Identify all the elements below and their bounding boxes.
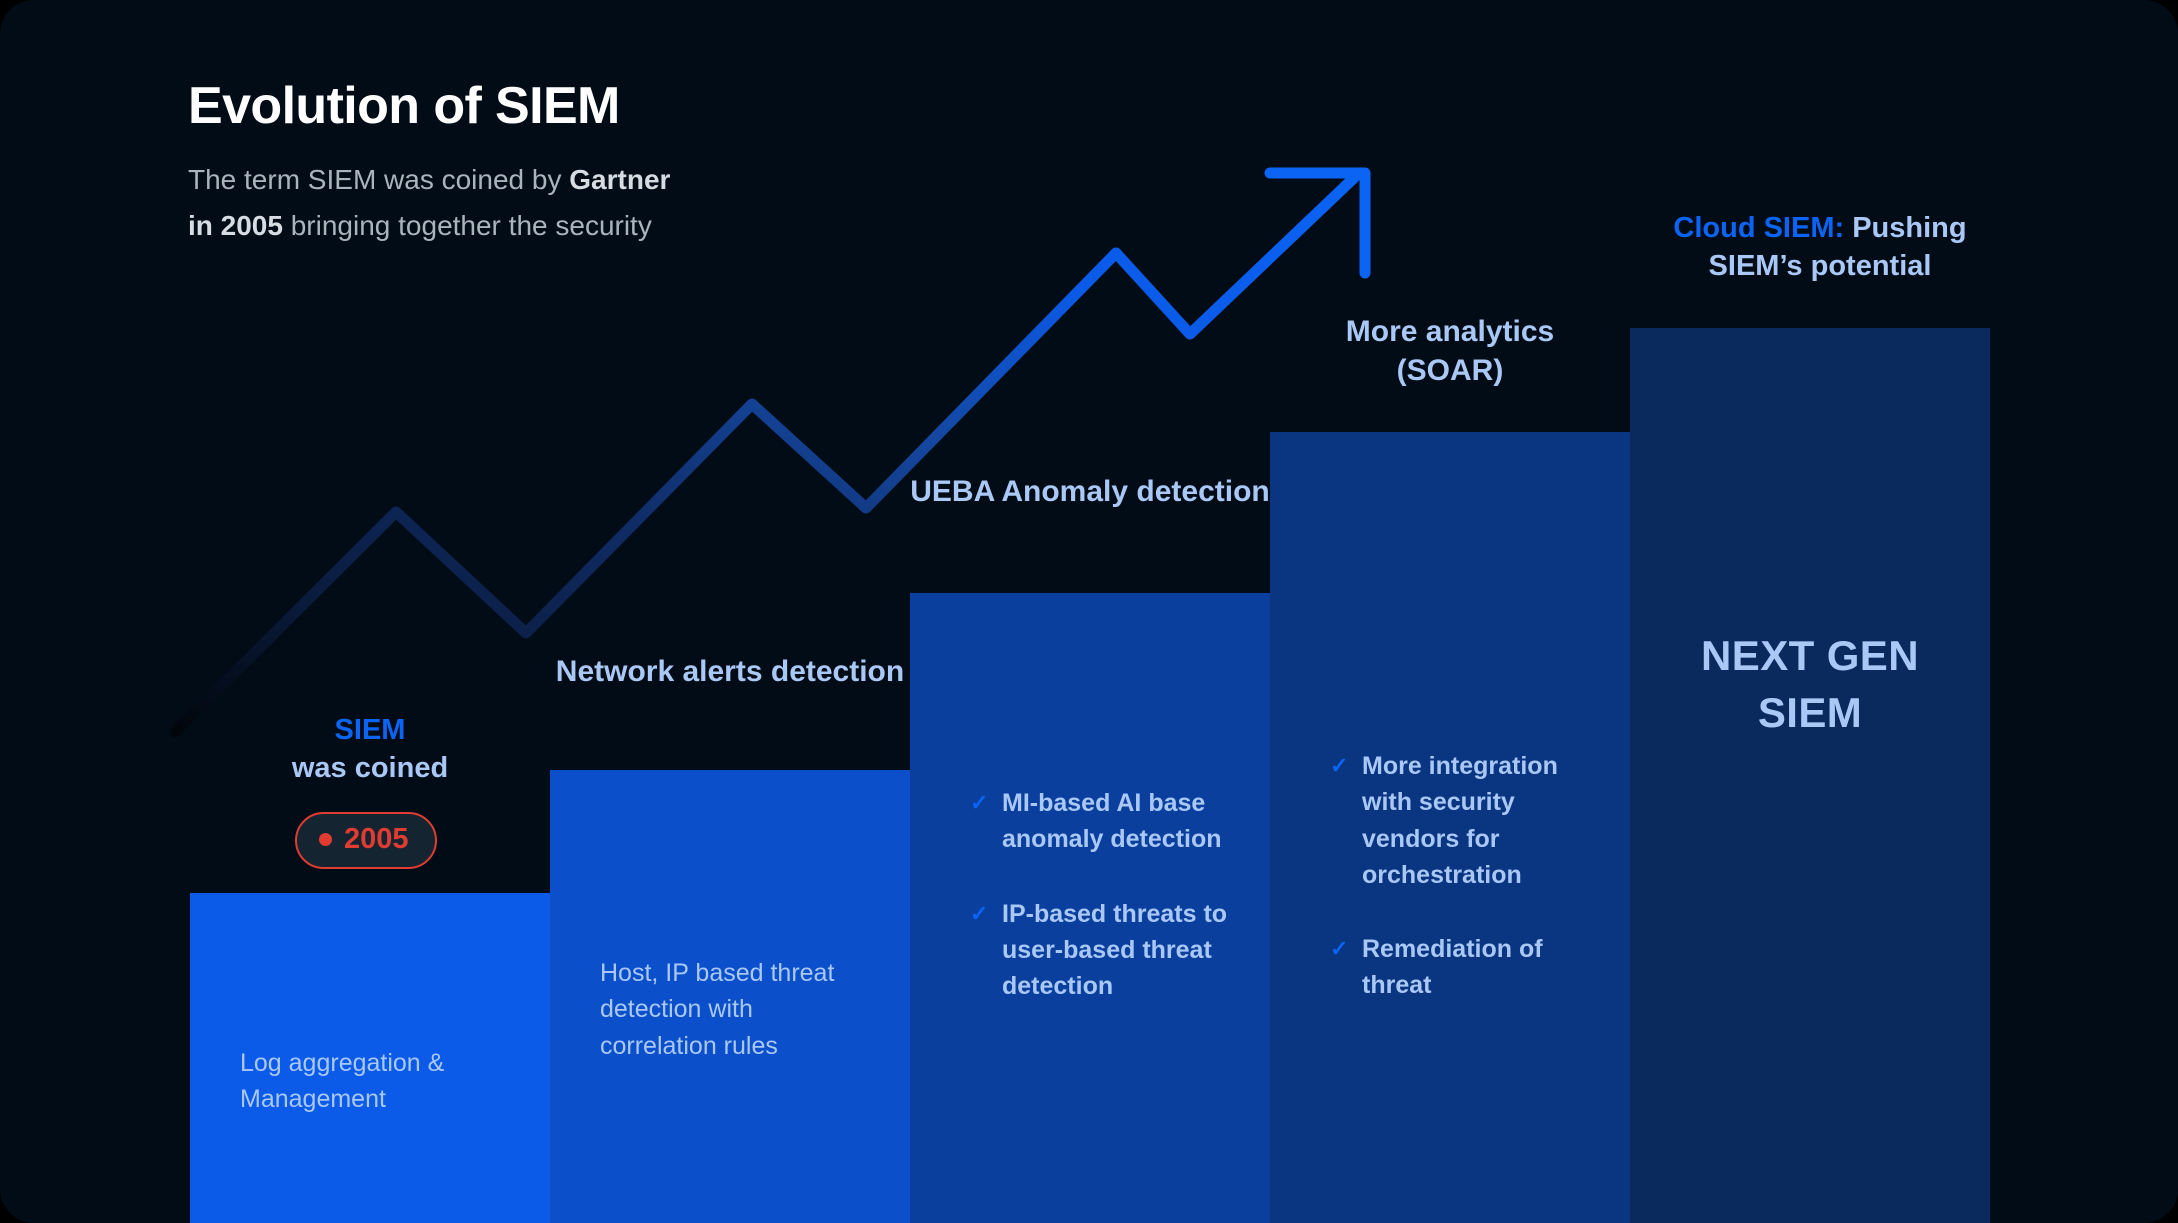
- caption-stage-5-accent: Cloud SIEM:: [1673, 212, 1844, 244]
- page-title: Evolution of SIEM: [188, 78, 888, 135]
- bar-stage-1-text: Log aggregation & Management: [240, 1045, 500, 1118]
- page-subtitle: The term SIEM was coined by Gartnerin 20…: [188, 157, 788, 249]
- list-item-label: Remediation of threat: [1362, 935, 1543, 999]
- caption-stage-1: SIEM was coined: [190, 712, 550, 787]
- bar-stage-1[interactable]: Log aggregation & Management: [190, 893, 550, 1223]
- caption-stage-2: Network alerts detection: [550, 652, 910, 691]
- list-item-label: MI-based AI base anomaly detection: [1002, 789, 1222, 853]
- infographic-canvas: Evolution of SIEM The term SIEM was coin…: [0, 0, 2178, 1223]
- check-icon: ✓: [1330, 750, 1348, 782]
- bar-stage-2-content: Host, IP based threat detection with cor…: [550, 770, 910, 1223]
- caption-stage-3: UEBA Anomaly detection: [910, 472, 1270, 511]
- list-item-label: More integration with security vendors f…: [1362, 752, 1558, 889]
- subtitle-plain-2: bringing together the security: [283, 210, 652, 241]
- list-item-label: IP-based threats to user-based threat de…: [1002, 900, 1227, 1001]
- subtitle-plain-1: The term SIEM was coined by: [188, 164, 569, 195]
- check-icon: ✓: [1330, 933, 1348, 965]
- caption-stage-5: Cloud SIEM: Pushing SIEM’s potential: [1625, 210, 2015, 285]
- subtitle-bold-1: Gartner: [569, 164, 670, 195]
- bar-stage-3-bullets: ✓ MI-based AI base anomaly detection ✓ I…: [970, 785, 1232, 1004]
- check-icon: ✓: [970, 787, 988, 819]
- red-dot-icon: [319, 833, 332, 846]
- caption-stage-1-rest: was coined: [292, 752, 448, 784]
- year-badge-label: 2005: [344, 823, 409, 856]
- year-badge-2005[interactable]: 2005: [295, 812, 437, 869]
- list-item: ✓ Remediation of threat: [1330, 931, 1592, 1004]
- header-block: Evolution of SIEM The term SIEM was coin…: [188, 78, 888, 250]
- bar-stage-3-content: ✓ MI-based AI base anomaly detection ✓ I…: [910, 593, 1270, 1223]
- list-item: ✓ MI-based AI base anomaly detection: [970, 785, 1232, 858]
- bar-stage-5-headline: NEXT GEN SIEM: [1670, 628, 1950, 741]
- bar-stage-5[interactable]: NEXT GEN SIEM: [1630, 328, 1990, 1223]
- bar-stage-4-bullets: ✓ More integration with security vendors…: [1330, 748, 1592, 1004]
- list-item: ✓ IP-based threats to user-based threat …: [970, 896, 1232, 1005]
- caption-stage-3-label: UEBA Anomaly detection: [910, 475, 1270, 508]
- check-icon: ✓: [970, 898, 988, 930]
- bar-stage-5-headline-label: NEXT GEN SIEM: [1701, 632, 1919, 736]
- caption-stage-4: More analytics (SOAR): [1270, 312, 1630, 390]
- caption-stage-4-line1: More analytics: [1346, 315, 1554, 348]
- list-item: ✓ More integration with security vendors…: [1330, 748, 1592, 893]
- bar-stage-3[interactable]: ✓ MI-based AI base anomaly detection ✓ I…: [910, 593, 1270, 1223]
- bar-stage-4-content: ✓ More integration with security vendors…: [1270, 432, 1630, 1223]
- caption-stage-2-label: Network alerts detection: [556, 655, 904, 688]
- caption-stage-4-line2: (SOAR): [1397, 354, 1504, 387]
- bar-stage-2-text: Host, IP based threat detection with cor…: [600, 955, 860, 1064]
- subtitle-bold-2: in 2005: [188, 210, 283, 241]
- bar-stage-4[interactable]: ✓ More integration with security vendors…: [1270, 432, 1630, 1223]
- bar-stage-2[interactable]: Host, IP based threat detection with cor…: [550, 770, 910, 1223]
- bar-stage-1-content: Log aggregation & Management: [190, 893, 550, 1223]
- caption-stage-1-accent: SIEM: [335, 714, 406, 746]
